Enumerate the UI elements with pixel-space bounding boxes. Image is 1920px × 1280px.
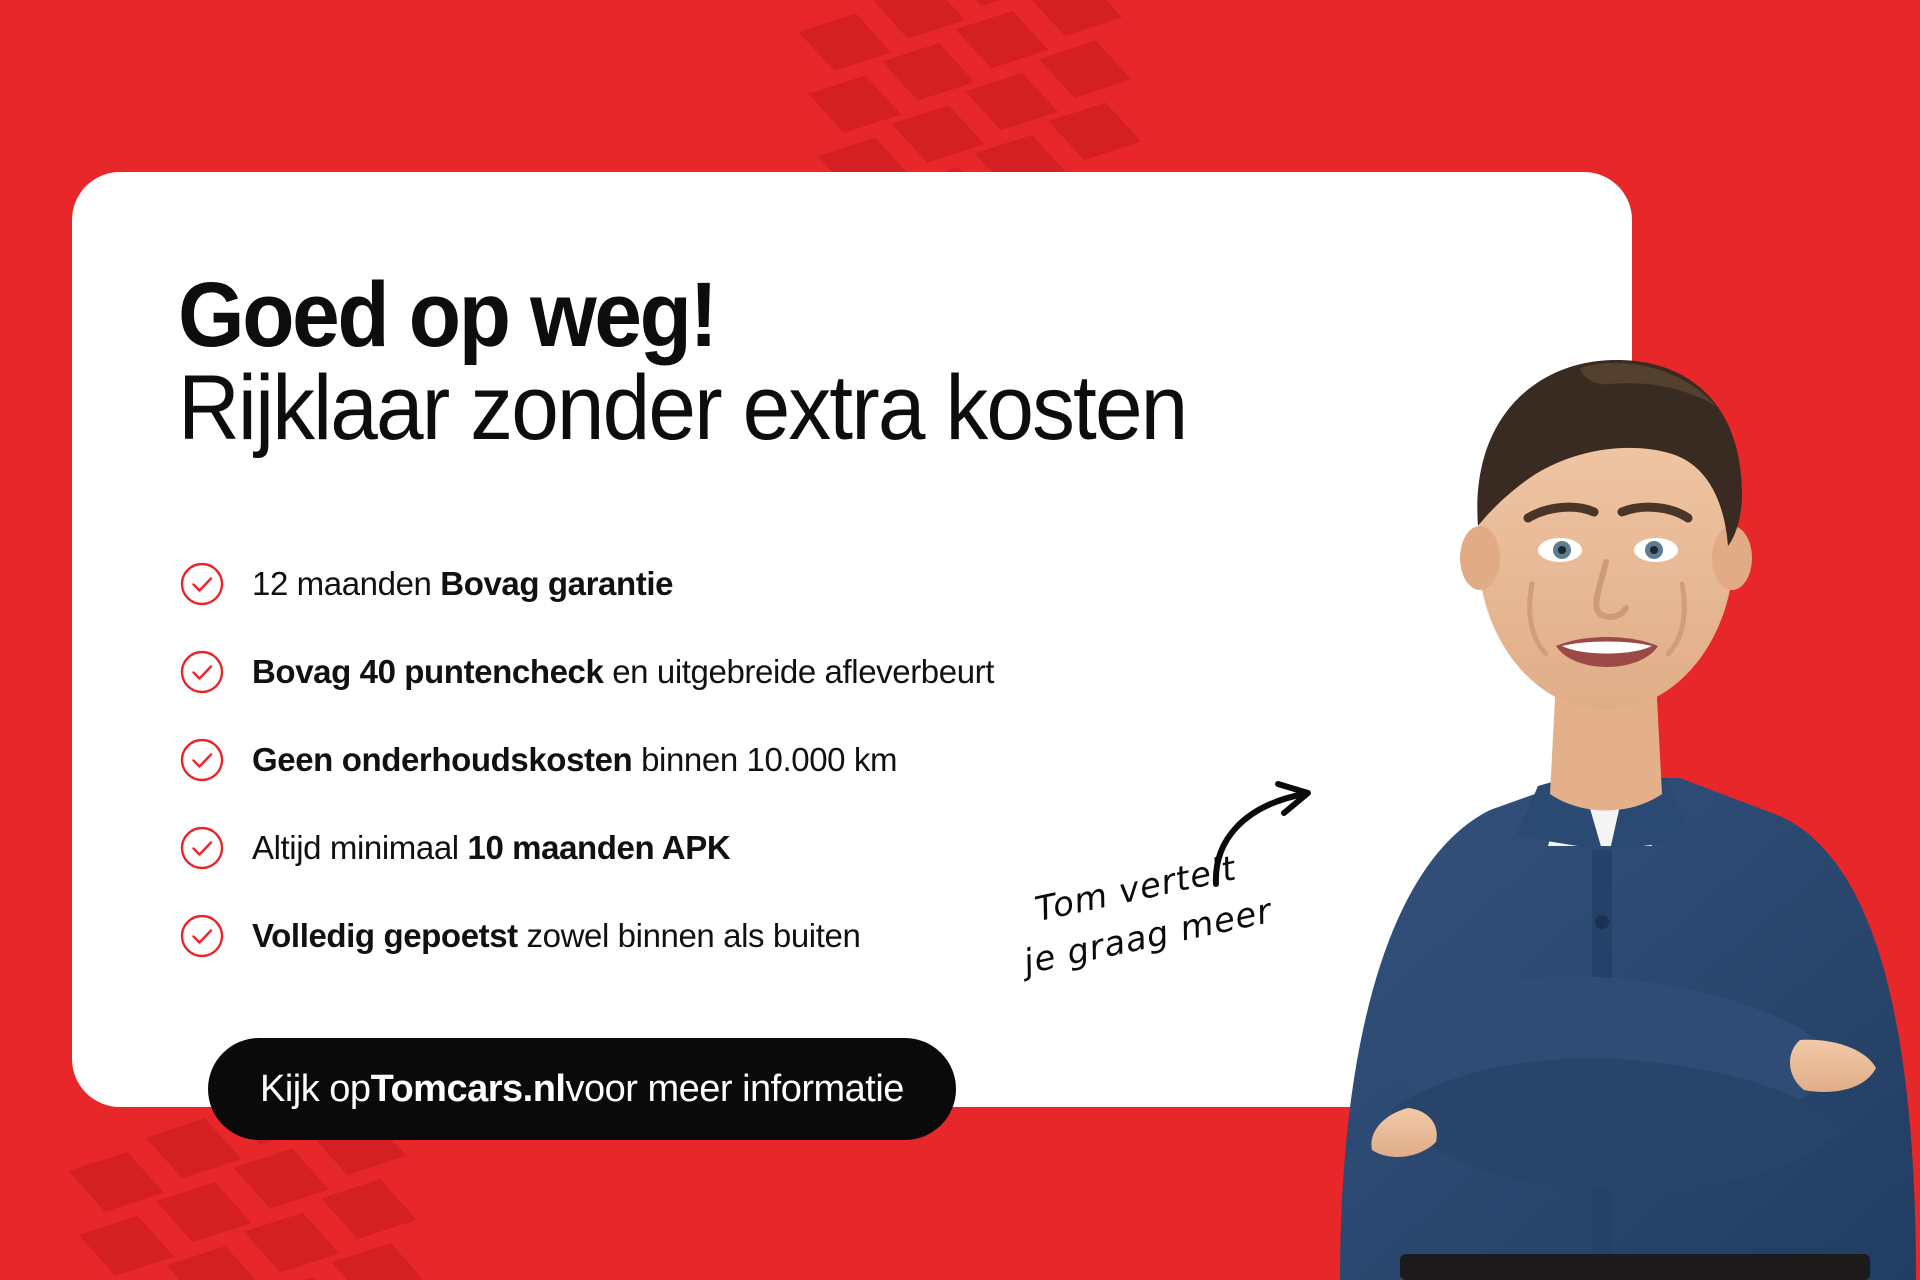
benefit-strong: Geen onderhoudskosten bbox=[252, 741, 632, 778]
check-circle-icon bbox=[180, 650, 224, 694]
check-circle-icon bbox=[180, 562, 224, 606]
list-item: Geen onderhoudskosten binnen 10.000 km bbox=[180, 724, 1220, 796]
benefit-post: zowel binnen als buiten bbox=[518, 917, 861, 954]
portrait-photo bbox=[1280, 250, 1920, 1280]
benefit-text: Altijd minimaal 10 maanden APK bbox=[252, 828, 730, 868]
headline-line-2: Rijklaar zonder extra kosten bbox=[178, 360, 1220, 458]
benefit-pre: Altijd minimaal bbox=[252, 829, 468, 866]
promo-banner: Goed op weg! Rijklaar zonder extra koste… bbox=[0, 0, 1920, 1280]
check-circle-icon bbox=[180, 826, 224, 870]
cta-brand: Tomcars.nl bbox=[371, 1068, 566, 1111]
benefit-pre: 12 maanden bbox=[252, 565, 440, 602]
benefits-list: 12 maanden Bovag garantie Bovag 40 punte… bbox=[180, 548, 1220, 988]
benefit-text: 12 maanden Bovag garantie bbox=[252, 564, 673, 604]
cta-post: voor meer informatie bbox=[565, 1068, 903, 1111]
benefit-strong: Bovag garantie bbox=[440, 565, 673, 602]
benefit-strong: 10 maanden APK bbox=[468, 829, 731, 866]
list-item: 12 maanden Bovag garantie bbox=[180, 548, 1220, 620]
list-item: Altijd minimaal 10 maanden APK bbox=[180, 812, 1220, 884]
benefit-text: Bovag 40 puntencheck en uitgebreide afle… bbox=[252, 652, 994, 692]
cta-button[interactable]: Kijk op Tomcars.nl voor meer informatie bbox=[208, 1038, 956, 1140]
cta-pre: Kijk op bbox=[260, 1068, 371, 1111]
benefit-post: binnen 10.000 km bbox=[632, 741, 897, 778]
benefit-post: en uitgebreide afleverbeurt bbox=[603, 653, 994, 690]
check-circle-icon bbox=[180, 738, 224, 782]
headline-line-1: Goed op weg! bbox=[178, 270, 1220, 360]
benefit-strong: Volledig gepoetst bbox=[252, 917, 518, 954]
check-circle-icon bbox=[180, 914, 224, 958]
benefit-text: Geen onderhoudskosten binnen 10.000 km bbox=[252, 740, 897, 780]
list-item: Bovag 40 puntencheck en uitgebreide afle… bbox=[180, 636, 1220, 708]
list-item: Volledig gepoetst zowel binnen als buite… bbox=[180, 900, 1220, 972]
headline-block: Goed op weg! Rijklaar zonder extra koste… bbox=[178, 270, 1298, 458]
benefit-strong: Bovag 40 puntencheck bbox=[252, 653, 603, 690]
benefit-text: Volledig gepoetst zowel binnen als buite… bbox=[252, 916, 860, 956]
